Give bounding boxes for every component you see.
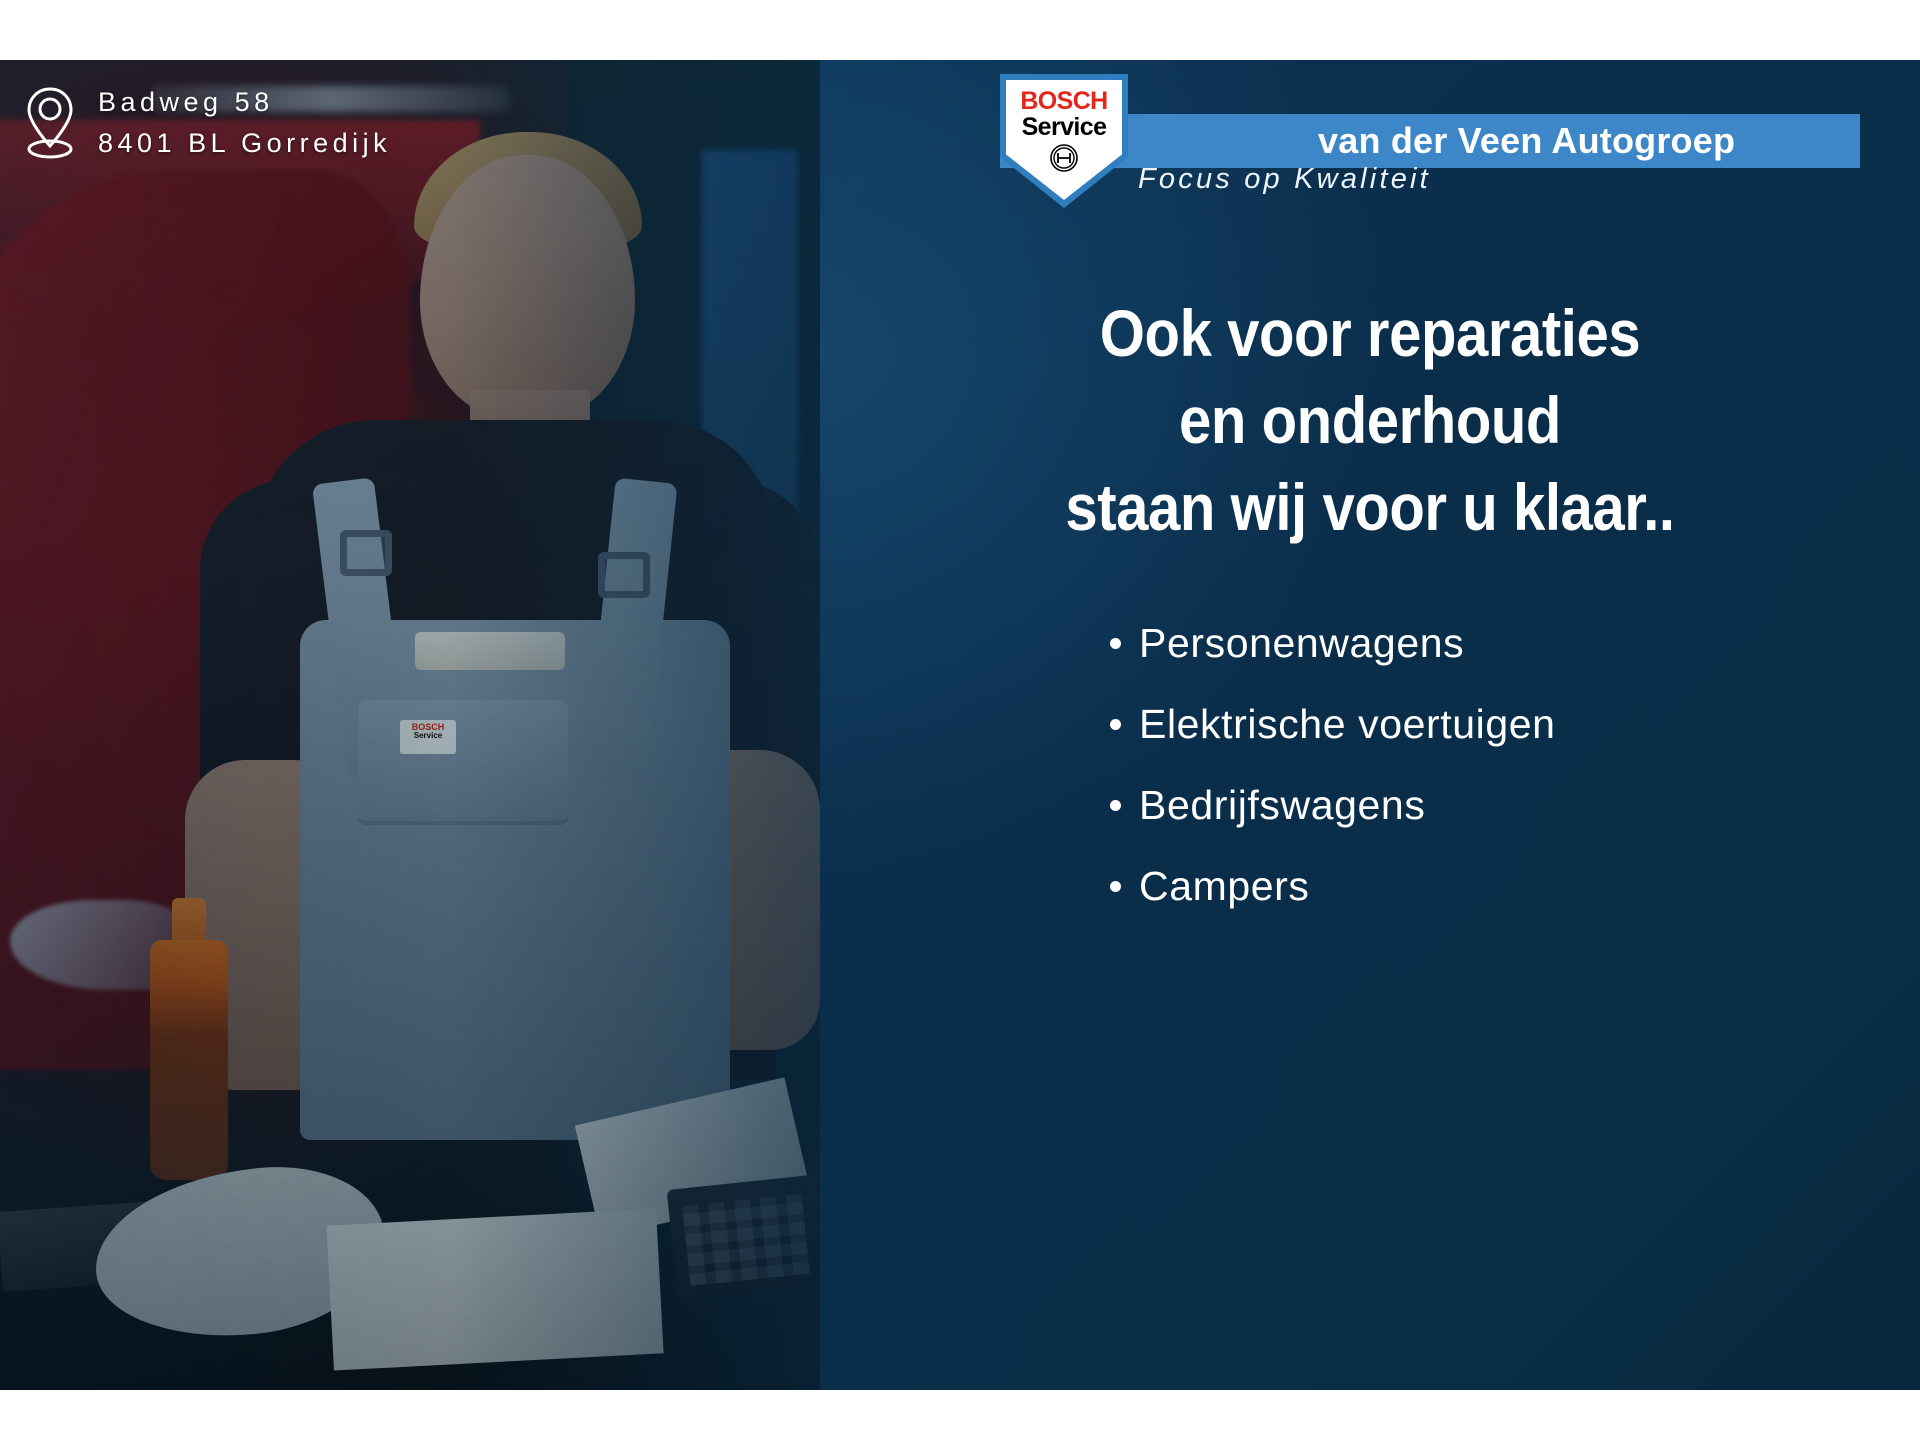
services-list: Personenwagens Elektrische voertuigen Be… [820, 620, 1920, 910]
info-panel: van der Veen Autogroep BOSCH Service Foc… [820, 60, 1920, 1390]
bosch-service-word: Service [1022, 114, 1107, 141]
service-label: Campers [1139, 863, 1310, 910]
advertisement-slide: BOSCHService Badweg 58 [0, 60, 1920, 1390]
service-label: Personenwagens [1139, 620, 1464, 667]
brand-header: van der Veen Autogroep [1000, 72, 1860, 222]
bullet-dot-icon [1110, 719, 1121, 730]
headline-line-2: en onderhoud [886, 377, 1854, 464]
address-overlay: Badweg 58 8401 BL Gorredijk [24, 82, 391, 164]
headline-line-3: staan wij voor u klaar.. [886, 464, 1854, 551]
bullet-dot-icon [1110, 800, 1121, 811]
headline: Ook voor reparaties en onderhoud staan w… [886, 290, 1854, 551]
company-name: van der Veen Autogroep [1318, 116, 1858, 166]
mechanic-photo-panel: BOSCHService Badweg 58 [0, 60, 820, 1390]
list-item: Bedrijfswagens [1110, 782, 1630, 829]
address-line-2: 8401 BL Gorredijk [98, 123, 391, 164]
list-item: Personenwagens [1110, 620, 1630, 667]
address-text: Badweg 58 8401 BL Gorredijk [98, 82, 391, 164]
bosch-wordmark: BOSCH [1020, 89, 1107, 114]
slide-canvas: BOSCHService Badweg 58 [0, 0, 1920, 1440]
brand-tagline: Focus op Kwaliteit [1138, 163, 1431, 196]
bosch-armature-icon [1049, 143, 1079, 173]
bullet-dot-icon [1110, 638, 1121, 649]
headline-line-1: Ook voor reparaties [886, 290, 1854, 377]
location-pin-icon [24, 86, 76, 160]
service-label: Elektrische voertuigen [1139, 701, 1556, 748]
list-item: Elektrische voertuigen [1110, 701, 1630, 748]
list-item: Campers [1110, 863, 1630, 910]
bullet-dot-icon [1110, 881, 1121, 892]
address-line-1: Badweg 58 [98, 82, 391, 123]
service-label: Bedrijfswagens [1139, 782, 1425, 829]
photo-edge-vignette [0, 60, 820, 1390]
